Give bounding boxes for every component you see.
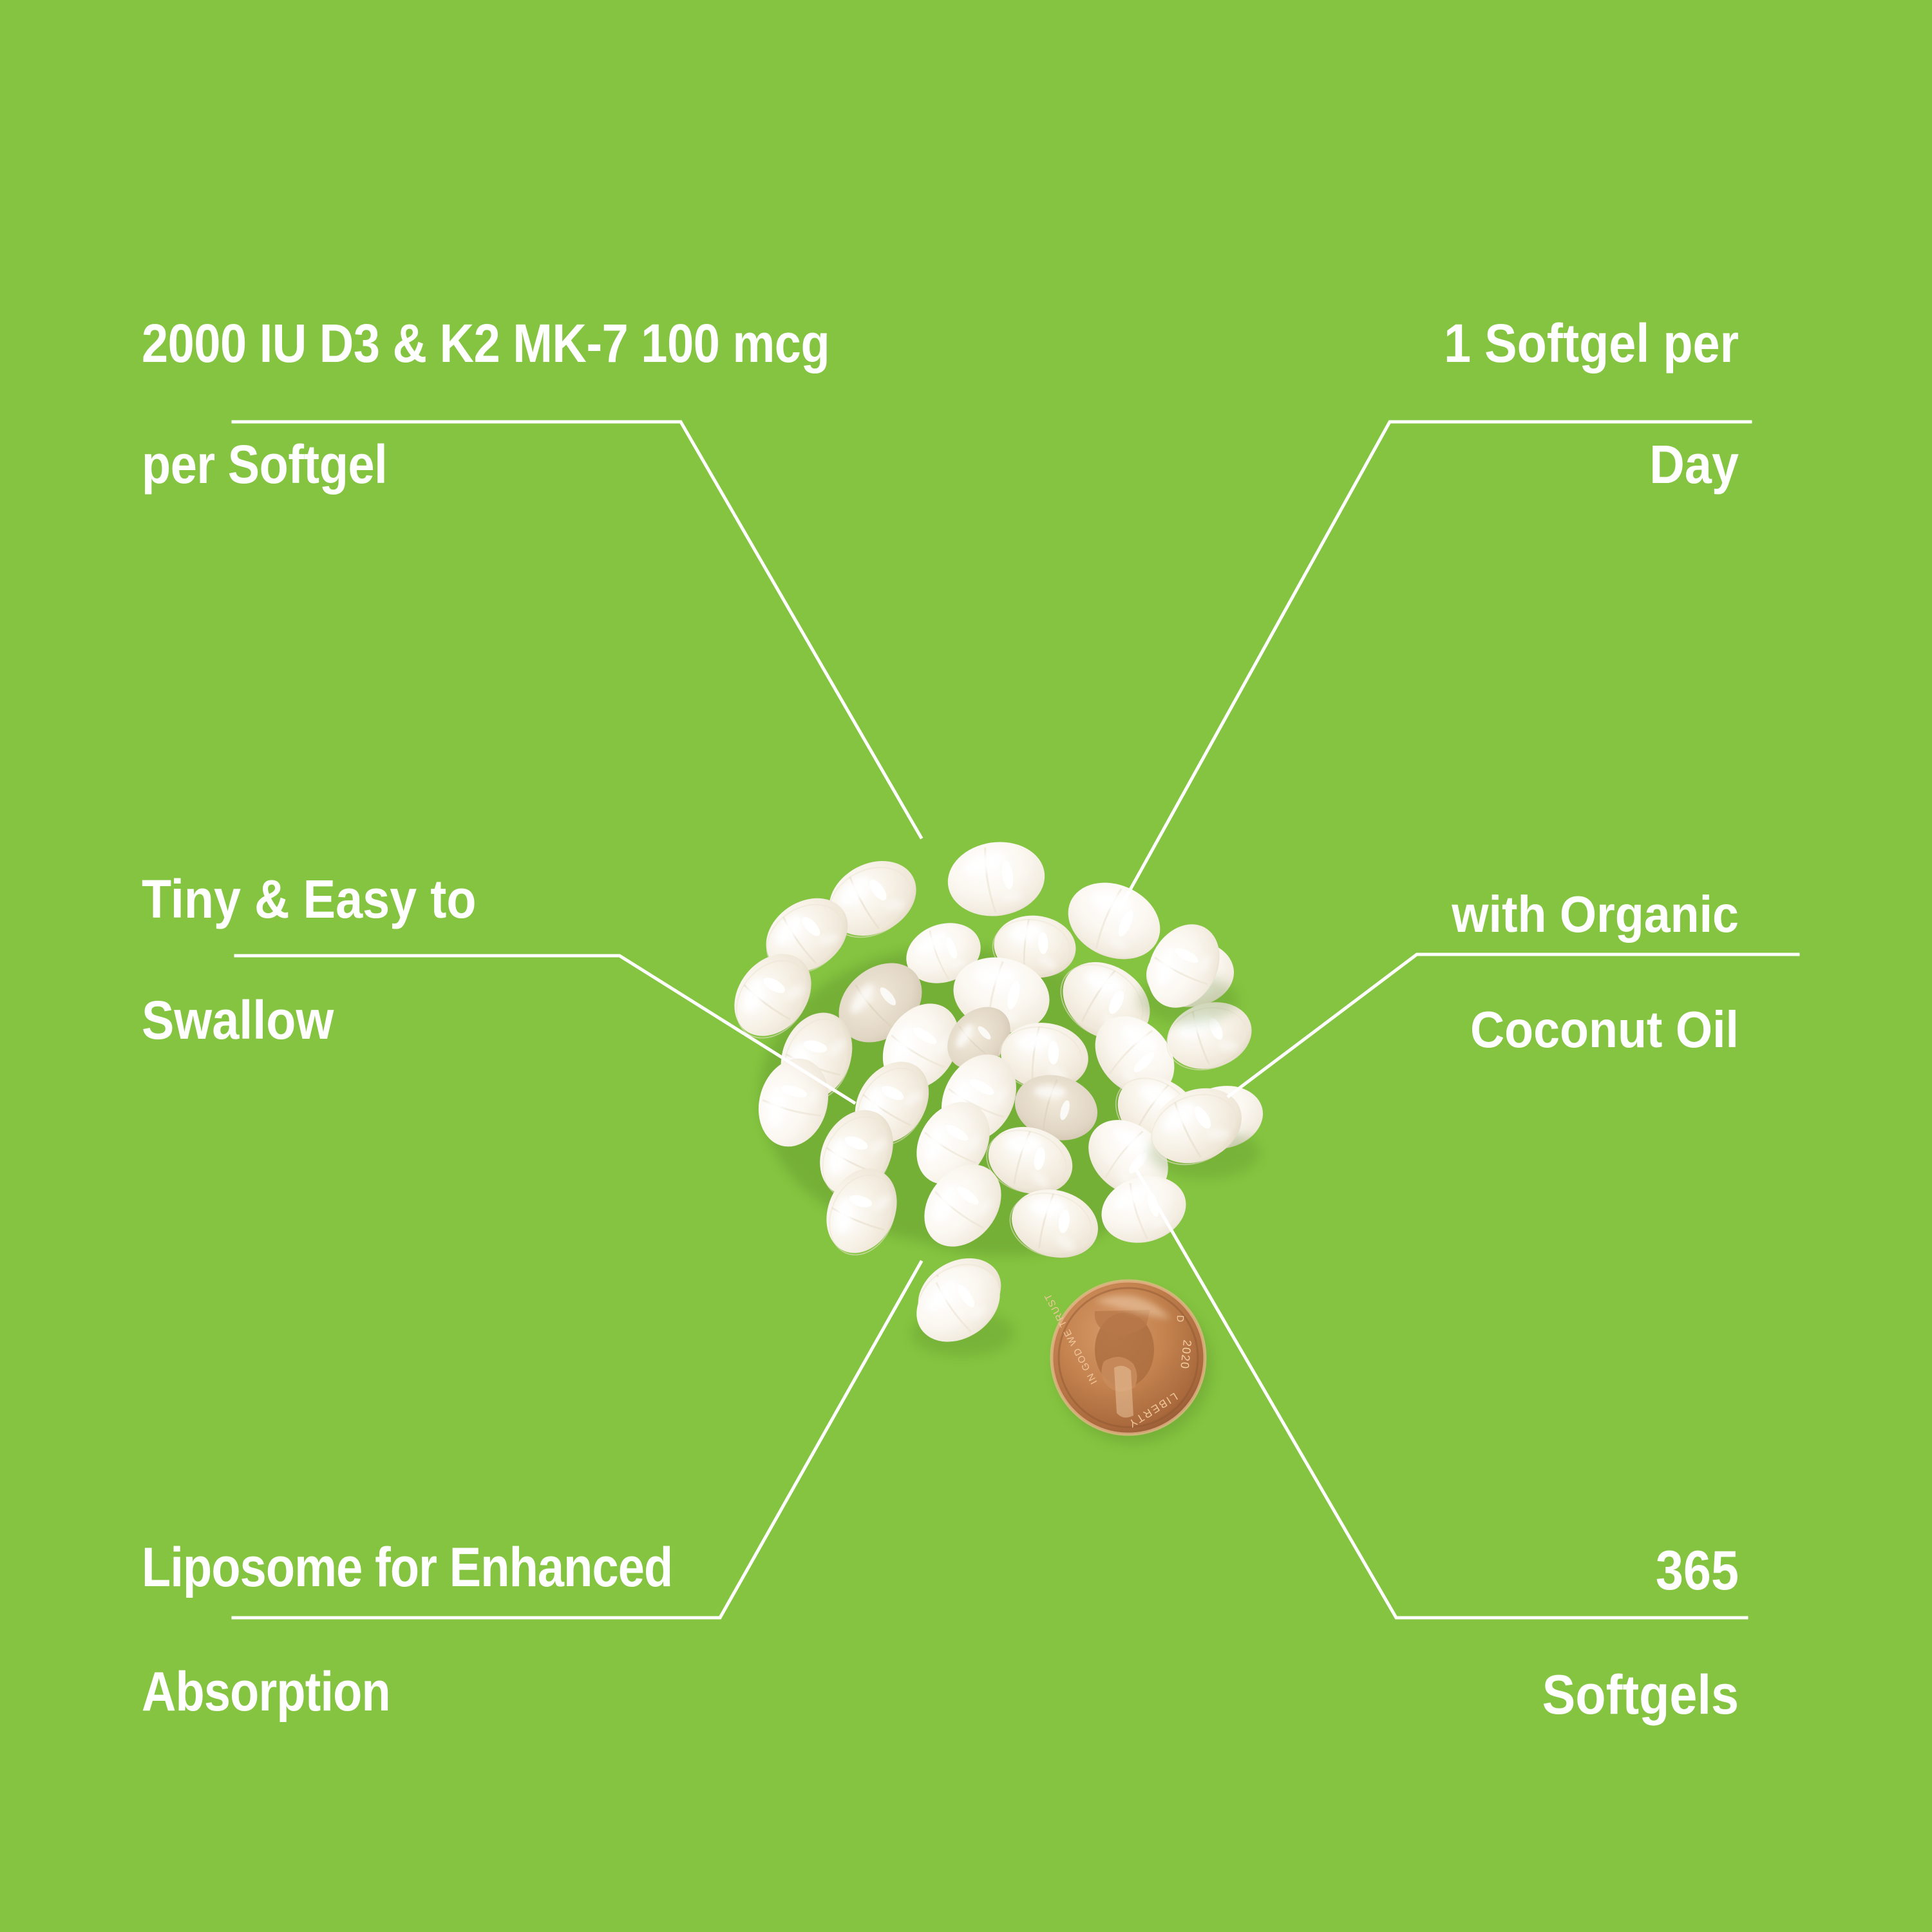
penny-coin: LIBERTY IN GOD WE TRUST 2020 D [1042, 1281, 1212, 1444]
callout-liposome-line2: Absorption [142, 1661, 795, 1723]
callout-dosage-line1: 2000 IU D3 & K2 MK-7 100 mcg [142, 313, 947, 374]
callout-organic-coconut-oil: with Organic Coconut Oil [1289, 828, 1739, 1116]
callout-count-line1: 365 [1368, 1540, 1739, 1602]
infographic-canvas: LIBERTY IN GOD WE TRUST 2020 D 2000 IU D… [0, 0, 1932, 1932]
callout-dosage-line2: per Softgel [142, 434, 947, 495]
callout-tiny-line1: Tiny & Easy to [142, 869, 663, 929]
callout-coconut-line1: with Organic [1289, 885, 1739, 943]
callout-per-day-line1: 1 Softgel per [1321, 313, 1739, 374]
callout-dosage: 2000 IU D3 & K2 MK-7 100 mcg per Softgel [142, 252, 947, 555]
callout-softgel-count: 365 Softgels [1368, 1478, 1739, 1788]
callout-liposome-absorption: Liposome for Enhanced Absorption [142, 1475, 795, 1785]
callout-liposome-line1: Liposome for Enhanced [142, 1537, 795, 1598]
callout-tiny-easy-swallow: Tiny & Easy to Swallow [142, 808, 663, 1111]
callout-per-day: 1 Softgel per Day [1321, 252, 1739, 555]
callout-tiny-line2: Swallow [142, 990, 663, 1050]
callout-per-day-line2: Day [1321, 434, 1739, 495]
callout-coconut-line2: Coconut Oil [1289, 1001, 1739, 1059]
callout-count-line2: Softgels [1368, 1664, 1739, 1726]
